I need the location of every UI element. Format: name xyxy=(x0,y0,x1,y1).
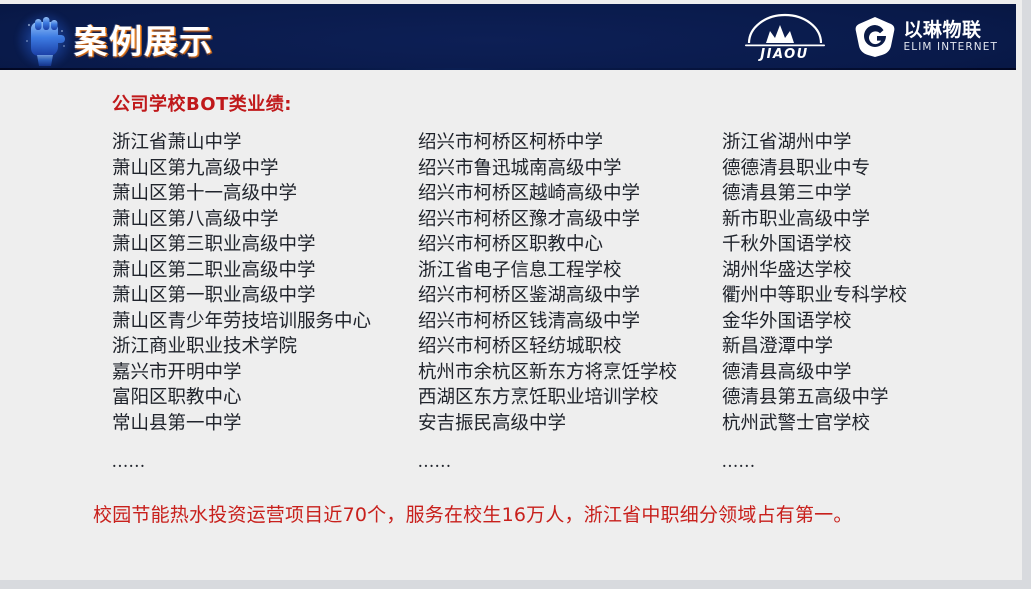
list-item: 千秋外国语学校 xyxy=(722,233,972,259)
ellipsis-marker: ...... xyxy=(112,450,418,476)
slide-root: 案例展示 JIAOU 以琳物联 ELIM INTERNET xyxy=(0,0,1031,589)
list-item: 金华外国语学校 xyxy=(722,310,972,336)
list-item: 绍兴市柯桥区职教中心 xyxy=(418,233,722,259)
school-list-columns: 浙江省萧山中学 萧山区第九高级中学 萧山区第十一高级中学 萧山区第八高级中学 萧… xyxy=(112,131,972,476)
list-item: 安吉振民高级中学 xyxy=(418,412,722,438)
list-item: 德清县高级中学 xyxy=(722,361,972,387)
list-item: 西湖区东方烹饪职业培训学校 xyxy=(418,386,722,412)
list-item: 杭州武警士官学校 xyxy=(722,412,972,438)
list-item: 新昌澄潭中学 xyxy=(722,335,972,361)
list-item: 绍兴市柯桥区豫才高级中学 xyxy=(418,208,722,234)
list-item: 富阳区职教中心 xyxy=(112,386,418,412)
list-item: 德清县第三中学 xyxy=(722,182,972,208)
sunrise-crown-icon xyxy=(739,13,831,47)
list-item: 萧山区第八高级中学 xyxy=(112,208,418,234)
list-item: 常山县第一中学 xyxy=(112,412,418,438)
list-item: 萧山区第十一高级中学 xyxy=(112,182,418,208)
logo-group: JIAOU 以琳物联 ELIM INTERNET xyxy=(739,10,998,64)
elim-logo: 以琳物联 ELIM INTERNET xyxy=(853,15,998,59)
jiaou-logo: JIAOU xyxy=(739,13,831,61)
elim-name-cn: 以琳物联 xyxy=(904,21,998,41)
school-column-2: 绍兴市柯桥区柯桥中学 绍兴市鲁迅城南高级中学 绍兴市柯桥区越崎高级中学 绍兴市柯… xyxy=(418,131,722,476)
list-item: 杭州市余杭区新东方将烹饪学校 xyxy=(418,361,722,387)
list-item: 浙江省湖州中学 xyxy=(722,131,972,157)
section-title: 公司学校BOT类业绩: xyxy=(112,90,292,116)
list-item: 浙江商业职业技术学院 xyxy=(112,335,418,361)
list-item: 萧山区第一职业高级中学 xyxy=(112,284,418,310)
raised-fist-icon xyxy=(14,8,76,70)
list-item: 绍兴市鲁迅城南高级中学 xyxy=(418,157,722,183)
list-item: 绍兴市柯桥区轻纺城职校 xyxy=(418,335,722,361)
summary-footnote: 校园节能热水投资运营项目近70个，服务在校生16万人，浙江省中职细分领域占有第一… xyxy=(93,500,853,527)
list-item: 衢州中等职业专科学校 xyxy=(722,284,972,310)
ellipsis-marker: ...... xyxy=(722,450,972,476)
jiaou-wordmark: JIAOU xyxy=(760,48,808,61)
list-item: 绍兴市柯桥区柯桥中学 xyxy=(418,131,722,157)
list-item: 萧山区第二职业高级中学 xyxy=(112,259,418,285)
list-item: 绍兴市柯桥区鉴湖高级中学 xyxy=(418,284,722,310)
elim-text-block: 以琳物联 ELIM INTERNET xyxy=(904,21,998,54)
list-item: 萧山区第九高级中学 xyxy=(112,157,418,183)
hexagon-g-icon xyxy=(853,15,897,59)
page-title: 案例展示 xyxy=(74,15,214,63)
list-item: 浙江省电子信息工程学校 xyxy=(418,259,722,285)
list-item: 德德清县职业中专 xyxy=(722,157,972,183)
list-item: 新市职业高级中学 xyxy=(722,208,972,234)
slide-header: 案例展示 JIAOU 以琳物联 ELIM INTERNET xyxy=(0,4,1016,70)
list-item: 浙江省萧山中学 xyxy=(112,131,418,157)
list-item: 嘉兴市开明中学 xyxy=(112,361,418,387)
school-column-1: 浙江省萧山中学 萧山区第九高级中学 萧山区第十一高级中学 萧山区第八高级中学 萧… xyxy=(112,131,418,476)
list-item: 绍兴市柯桥区钱清高级中学 xyxy=(418,310,722,336)
list-item: 湖州华盛达学校 xyxy=(722,259,972,285)
ellipsis-marker: ...... xyxy=(418,450,722,476)
list-item: 德清县第五高级中学 xyxy=(722,386,972,412)
list-item: 萧山区第三职业高级中学 xyxy=(112,233,418,259)
school-column-3: 浙江省湖州中学 德德清县职业中专 德清县第三中学 新市职业高级中学 千秋外国语学… xyxy=(722,131,972,476)
list-item: 萧山区青少年劳技培训服务中心 xyxy=(112,310,418,336)
list-item: 绍兴市柯桥区越崎高级中学 xyxy=(418,182,722,208)
elim-name-en: ELIM INTERNET xyxy=(904,42,998,53)
